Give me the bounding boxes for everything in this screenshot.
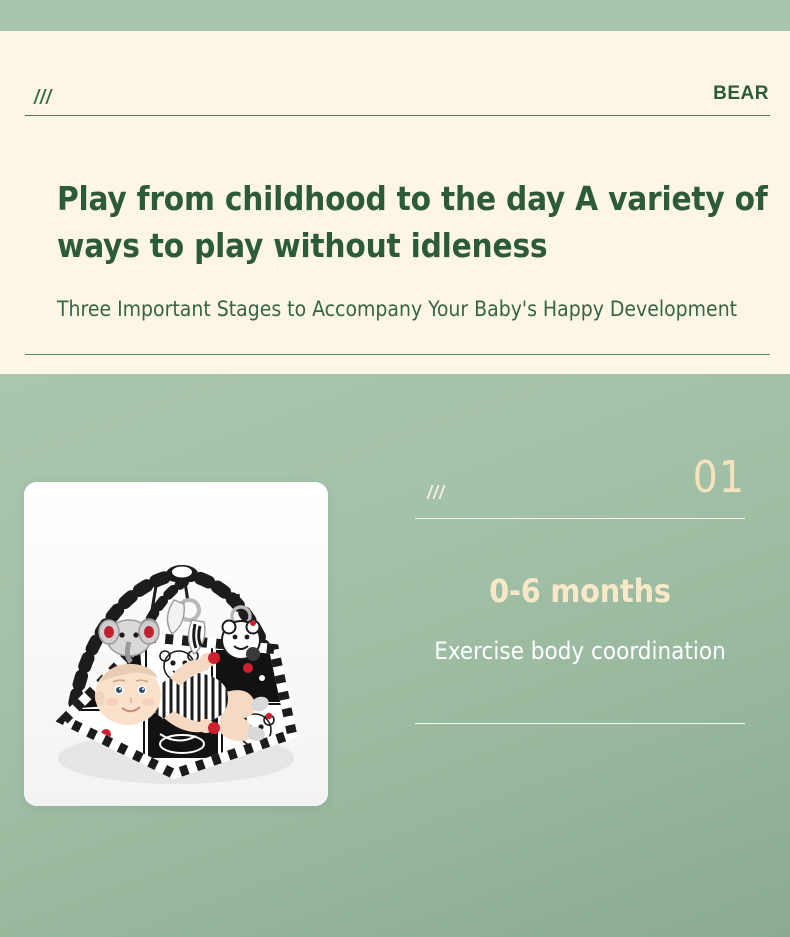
stage-divider-top xyxy=(415,518,745,519)
top-green-strip xyxy=(0,0,790,31)
product-image-card xyxy=(24,482,328,806)
product-photo xyxy=(24,482,328,806)
stage-info-panel: 01 0-6 months Exercise body coordination xyxy=(415,462,745,727)
header-divider-top xyxy=(25,115,770,116)
stage-number: 01 xyxy=(693,456,745,500)
promo-page: BEAR Play from childhood to the day A va… xyxy=(0,0,790,937)
stage-age-range: 0-6 months xyxy=(415,575,745,609)
header-divider-bottom xyxy=(25,354,770,355)
page-title: Play from childhood to the day A variety… xyxy=(57,175,777,269)
brand-logo: BEAR xyxy=(713,83,769,105)
page-subtitle: Three Important Stages to Accompany Your… xyxy=(57,294,757,324)
stage-divider-bottom xyxy=(415,723,745,724)
triple-slash-icon xyxy=(429,485,443,499)
triple-slash-icon xyxy=(36,89,50,104)
stage-description: Exercise body coordination xyxy=(415,634,745,668)
header-section: BEAR Play from childhood to the day A va… xyxy=(0,31,790,374)
